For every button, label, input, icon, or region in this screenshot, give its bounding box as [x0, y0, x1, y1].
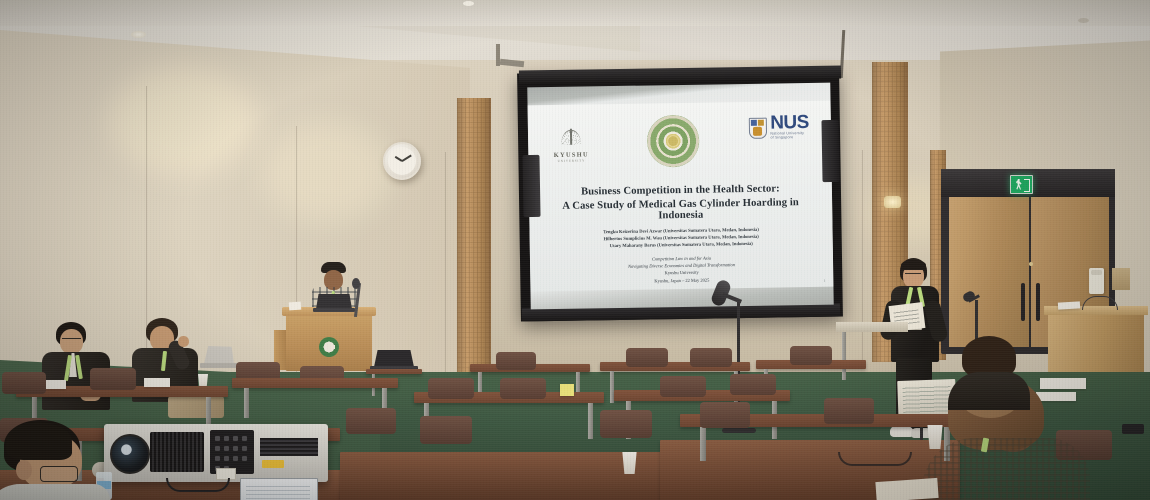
- wall-light-glow-1: [108, 66, 258, 176]
- audience-member-foreground-left: [0, 420, 122, 500]
- wall-light-glow-2: [262, 122, 392, 222]
- lectern-microphone-head-icon: [352, 278, 360, 289]
- door-lock-icon: [1029, 262, 1033, 266]
- lectern-laptop-screen: [316, 294, 352, 309]
- desk-foreground-mid: [340, 452, 670, 500]
- projected-image-area: KYUSHU UNIVERSITY NUS National Universit…: [527, 83, 833, 310]
- wall-speaker-right: [821, 120, 839, 182]
- desk-leg-f3: [700, 427, 706, 461]
- microphone-base: [722, 428, 756, 433]
- wall-seam-3: [445, 152, 446, 374]
- projector-cable: [166, 478, 230, 492]
- side-lectern-cable: [1082, 296, 1118, 310]
- notebook-foreground-right: [875, 478, 938, 500]
- chair-left-2[interactable]: [90, 368, 136, 390]
- side-table-laptop-screen: [374, 350, 414, 367]
- emergency-exit-sign: [1010, 175, 1033, 194]
- second-left-hand: [178, 336, 189, 347]
- ceiling-smoke-detector: [1078, 18, 1089, 23]
- phone-on-desk[interactable]: [1122, 424, 1144, 434]
- fg-left-shoulder: [0, 484, 110, 500]
- fg-left-hair-overlay: [6, 422, 72, 460]
- desk-paper-left: [144, 378, 170, 387]
- wood-pillar-left: [457, 98, 491, 378]
- nus-shield-icon: [749, 117, 767, 138]
- chair-front-2[interactable]: [420, 416, 472, 444]
- side-lectern-paper: [1058, 301, 1080, 309]
- second-left-trousers: [168, 396, 224, 418]
- chair-back-mid-4[interactable]: [730, 374, 776, 395]
- desk-paper-mid: [560, 384, 574, 396]
- presenter-table-leg: [842, 332, 846, 380]
- slide-author-list: Tengku Keizerina Devi Azwar (Universitas…: [544, 225, 819, 251]
- door-handle-left[interactable]: [1021, 283, 1025, 321]
- lectern: [286, 313, 372, 371]
- kyushu-crest-icon: [558, 127, 584, 151]
- projector-exhaust-vent: [260, 438, 318, 456]
- wall-vent: [1112, 268, 1130, 290]
- chair-front-3[interactable]: [600, 410, 652, 438]
- chair-front-5[interactable]: [824, 398, 874, 424]
- ceiling-downlight-3: [463, 1, 474, 6]
- clock-face: [388, 147, 416, 175]
- presentation-slide: KYUSHU UNIVERSITY NUS National Universit…: [528, 101, 834, 292]
- slide-conference-block: Competition Law in and for Asia Navigati…: [544, 253, 819, 286]
- nus-logo: NUS National University of Singapore: [749, 115, 809, 140]
- chair-front-4[interactable]: [700, 402, 750, 428]
- desk-leg-l3: [244, 388, 249, 418]
- desk-left-row-2: [232, 378, 398, 388]
- audience-laptop-left: [204, 346, 234, 364]
- door-left-panel[interactable]: [949, 197, 1029, 347]
- lectern-emblem-icon: [319, 337, 339, 357]
- wall-clock: [383, 142, 421, 180]
- chair-back-row-4[interactable]: [790, 346, 832, 365]
- presenter-glasses-icon: [905, 273, 921, 277]
- door-handle-right[interactable]: [1036, 283, 1040, 321]
- chair-back-row-1[interactable]: [496, 352, 536, 370]
- ceiling-top-band: [0, 0, 1150, 26]
- exit-door-icon: [1024, 179, 1030, 192]
- nus-logo-sub-2: of Singapore: [770, 135, 809, 140]
- chair-back-row-3[interactable]: [690, 348, 732, 367]
- slide-title-line-2: A Case Study of Medical Gas Cylinder Hoa…: [539, 197, 822, 223]
- chair-back-row-2[interactable]: [626, 348, 668, 367]
- projector-intake-grill: [150, 432, 204, 472]
- fg-left-ear: [16, 460, 32, 480]
- lectern-laptop-base: [313, 308, 355, 312]
- front-left-glasses-icon: [62, 338, 81, 343]
- presenter-table: [836, 322, 908, 332]
- slide-page-number: 1: [824, 279, 826, 283]
- audience-member-behind-right: [946, 336, 1032, 408]
- ceiling-downlight-1: [131, 31, 146, 38]
- laptop-foreground-content: [246, 483, 310, 499]
- audience-laptop-left-base: [200, 363, 240, 368]
- desk-leg-m2: [588, 403, 593, 439]
- wall-speaker-left: [522, 155, 540, 217]
- wall-phone[interactable]: [1089, 268, 1104, 294]
- slide-title: Business Competition in the Health Secto…: [539, 183, 823, 223]
- chair-back-mid-1[interactable]: [428, 378, 474, 399]
- nus-logo-word: NUS: [770, 115, 809, 132]
- wall-sconce: [884, 196, 901, 208]
- presenter-hair-front: [901, 260, 926, 270]
- conference-room-screenshot: KYUSHU UNIVERSITY NUS National Universit…: [0, 0, 1150, 500]
- kyushu-logo-sub: UNIVERSITY: [550, 158, 592, 163]
- fg-left-glasses-icon: [40, 466, 78, 482]
- chair-front-1[interactable]: [346, 408, 396, 434]
- slide-title-line-1: Business Competition in the Health Secto…: [539, 183, 822, 198]
- universitas-sumatera-utara-seal: [647, 115, 700, 168]
- chair-back-mid-2[interactable]: [500, 378, 546, 399]
- chair-left-1[interactable]: [2, 372, 46, 394]
- audience-member-front-left: [40, 322, 128, 412]
- chair-back-mid-3[interactable]: [660, 376, 706, 397]
- behind-right-shoulder: [948, 372, 1030, 410]
- running-person-icon: [1016, 179, 1022, 190]
- lectern-paper: [289, 302, 302, 311]
- projector: [104, 424, 328, 482]
- kyushu-university-logo: KYUSHU UNIVERSITY: [550, 126, 593, 171]
- floor-cable: [838, 452, 912, 466]
- fg-right-jacket: [922, 438, 1090, 500]
- projector-label: [262, 460, 284, 468]
- clock-minute-hand: [402, 154, 412, 161]
